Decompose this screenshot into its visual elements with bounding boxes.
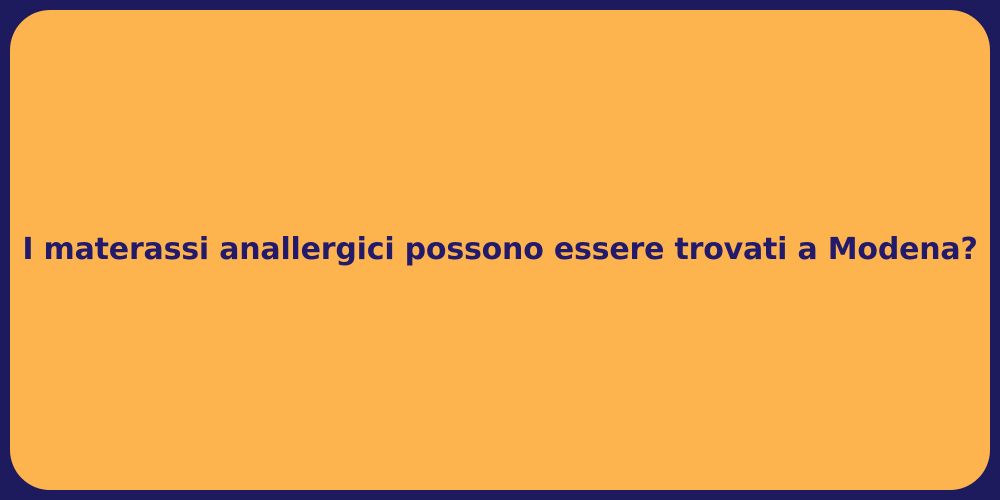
card-frame: I materassi anallergici possono essere t… [0, 0, 1000, 500]
headline-question: I materassi anallergici possono essere t… [22, 231, 977, 269]
card-panel: I materassi anallergici possono essere t… [10, 10, 990, 490]
